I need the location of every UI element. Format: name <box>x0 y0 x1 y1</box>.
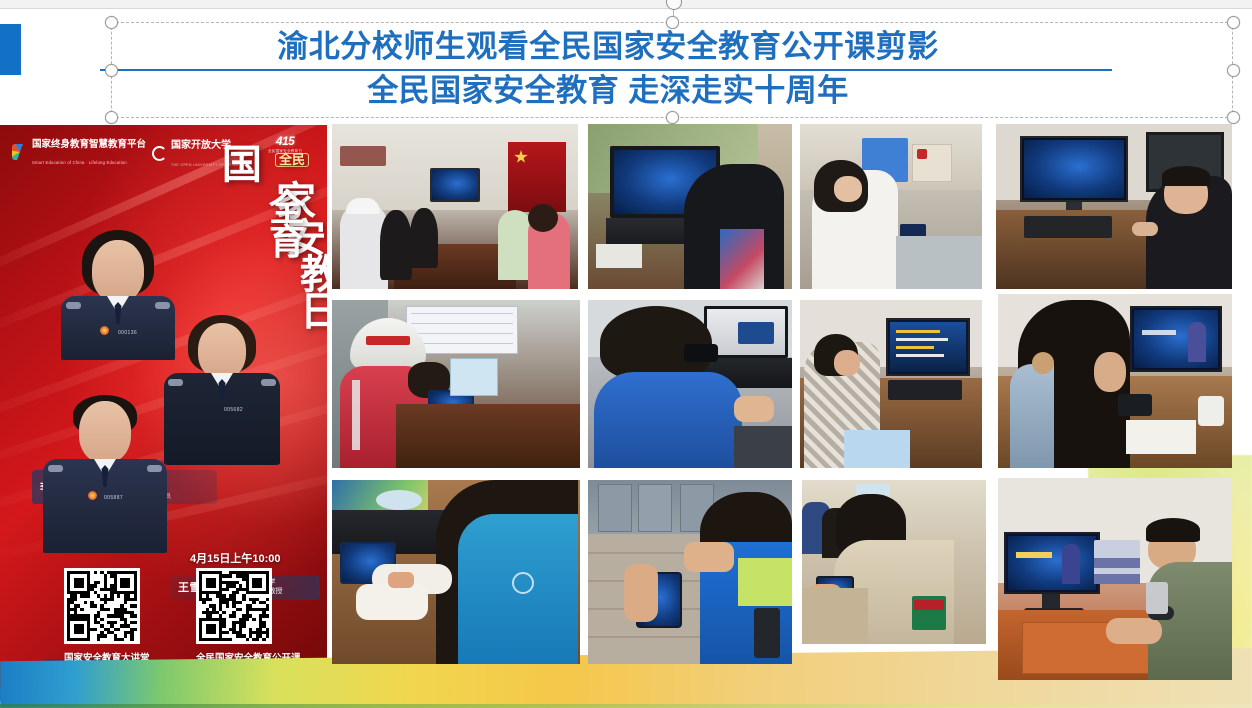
photo-thumbnail[interactable] <box>800 124 982 289</box>
hair <box>600 306 712 380</box>
photo-thumbnail[interactable] <box>588 124 792 289</box>
head <box>79 401 131 463</box>
epaulette <box>168 379 183 386</box>
badge-number: 005682 <box>224 407 243 413</box>
epaulette <box>66 302 81 309</box>
monitor <box>1130 306 1222 372</box>
document-tray <box>1094 574 1140 584</box>
reflective-vest <box>738 558 792 606</box>
calligraphy-char: 教 <box>222 257 327 294</box>
desk-paper <box>596 244 642 268</box>
monitor <box>1020 136 1128 202</box>
calligraphy-char: 国 <box>222 143 261 187</box>
tv-screen <box>430 168 480 202</box>
calligraphy-char: 育 <box>269 221 305 262</box>
photo-thumbnail[interactable] <box>998 294 1232 468</box>
attendee <box>410 208 438 268</box>
hand <box>1106 618 1162 644</box>
jacket-logo <box>720 229 764 289</box>
window-chrome-strip <box>0 0 1252 9</box>
trousers <box>734 426 792 468</box>
ring-icon <box>152 146 167 161</box>
head <box>198 323 246 379</box>
speaker-portrait: 005887 <box>40 395 170 553</box>
calligraphy-tag: 全民 <box>275 153 309 167</box>
hair-tie <box>1032 352 1054 374</box>
cap <box>346 198 380 214</box>
helmet-text <box>366 336 410 345</box>
resize-handle-bottom-center[interactable] <box>666 111 679 124</box>
hair <box>1146 518 1200 542</box>
qr-block[interactable]: 国家安全教育大讲堂 <box>64 568 150 664</box>
event-time: 4月15日上午10:00 <box>190 550 281 566</box>
presenter-figure <box>1062 544 1080 584</box>
vest-emblem <box>512 572 534 594</box>
screen-line <box>896 354 944 357</box>
resize-handle-middle-left[interactable] <box>105 64 118 77</box>
screen-line <box>896 346 934 349</box>
arm <box>684 542 734 572</box>
screen-line <box>896 330 940 333</box>
insignia <box>100 326 109 335</box>
resize-handle-top-left[interactable] <box>105 16 118 29</box>
screen-title <box>1142 330 1176 335</box>
thermos <box>1146 582 1168 614</box>
rule <box>411 313 513 314</box>
title-line-2: 全民国家安全教育 走深走实十周年 <box>104 72 1112 110</box>
monitor <box>1004 532 1100 594</box>
hand <box>624 564 658 622</box>
table-surface <box>802 588 868 644</box>
screen-content <box>1024 140 1124 198</box>
qr-code-open-class[interactable] <box>196 568 272 644</box>
photo-thumbnail[interactable] <box>996 124 1232 289</box>
smartphone <box>1118 394 1152 416</box>
fan-icon <box>12 144 28 160</box>
speaker-portrait: 000136 <box>58 230 178 360</box>
hand <box>1132 222 1158 236</box>
photo-thumbnail[interactable] <box>802 480 986 644</box>
head <box>92 240 144 302</box>
screen-line <box>896 338 948 341</box>
notebook <box>1126 420 1196 454</box>
glasses-icon <box>684 344 718 362</box>
phone-screen <box>738 322 774 344</box>
supply-box <box>450 358 498 396</box>
sleeve <box>356 584 428 620</box>
logo-label-415: 415 <box>268 134 302 148</box>
screen-title <box>1016 552 1052 558</box>
badge-number: 005887 <box>104 495 123 501</box>
photo-thumbnail[interactable] <box>998 478 1232 680</box>
resize-handle-bottom-right[interactable] <box>1227 111 1240 124</box>
smart-education-logo: 国家终身教育智慧教育平台 Smart Education of China · … <box>12 135 146 169</box>
title-line-1: 渝北分校师生观看全民国家安全教育公开课剪影 <box>104 28 1112 66</box>
wall-banner <box>508 142 566 212</box>
blue-shirt <box>594 372 742 468</box>
rule <box>411 323 513 324</box>
resize-handle-bottom-left[interactable] <box>105 111 118 124</box>
desk-surface <box>396 404 580 468</box>
hand <box>388 572 414 588</box>
attendee <box>380 210 412 280</box>
accent-bar <box>0 24 21 75</box>
face <box>834 350 860 376</box>
epaulette <box>147 465 162 472</box>
mug <box>1198 396 1224 426</box>
hair <box>1162 166 1210 186</box>
epaulette <box>48 465 63 472</box>
photo-thumbnail[interactable] <box>588 480 792 664</box>
reflective-stripe <box>352 380 360 450</box>
keyboard <box>888 380 962 400</box>
bottom-stripe <box>0 704 1252 708</box>
photo-thumbnail[interactable] <box>588 300 792 468</box>
poster-image[interactable]: 国家终身教育智慧教育平台 Smart Education of China · … <box>0 125 327 701</box>
face <box>834 176 862 202</box>
poster-calligraphy-secondary: 全 育 <box>269 191 305 259</box>
photo-thumbnail[interactable] <box>332 480 580 664</box>
locker <box>598 484 632 532</box>
screen-content <box>1008 536 1096 590</box>
face <box>1094 352 1126 392</box>
epaulette <box>261 379 276 386</box>
resize-handle-top-center[interactable] <box>666 16 679 29</box>
badge-number: 000136 <box>118 330 137 336</box>
document-stack <box>844 430 910 468</box>
attendee <box>498 210 532 280</box>
desk-surface <box>896 236 982 289</box>
resize-handle-top-right[interactable] <box>1227 16 1240 29</box>
polo-shirt <box>1148 562 1232 680</box>
presentation-slide[interactable]: 国家终身教育智慧教育平台 Smart Education of China · … <box>0 0 1252 708</box>
logo-label-en: Smart Education of China · Lifelong Educ… <box>32 160 127 165</box>
photo-thumbnail[interactable] <box>332 300 580 468</box>
keyboard <box>1024 216 1112 238</box>
patch-text <box>914 600 944 610</box>
speaker-portrait: 005682 <box>162 315 282 465</box>
screen-content <box>432 170 478 200</box>
desk-calendar <box>912 144 952 182</box>
page-title[interactable]: 渝北分校师生观看全民国家安全教育公开课剪影 全民国家安全教育 走深走实十周年 <box>104 26 1112 114</box>
photo-thumbnail[interactable] <box>332 124 578 289</box>
locker <box>638 484 672 532</box>
insignia <box>88 491 97 500</box>
denim-jacket <box>1010 364 1054 468</box>
calendar-mark <box>917 149 927 159</box>
logo-label-cn: 国家终身教育智慧教育平台 <box>32 139 146 150</box>
hair <box>528 204 558 232</box>
mouse-pad <box>376 490 422 510</box>
rule <box>411 333 513 334</box>
qr-block[interactable]: 全民国家安全教育公开课 <box>196 568 301 664</box>
photo-thumbnail[interactable] <box>800 300 982 468</box>
resize-handle-middle-right[interactable] <box>1227 64 1240 77</box>
qr-code-lecture-hall[interactable] <box>64 568 140 644</box>
epaulette <box>155 302 170 309</box>
sleeve-patch <box>912 596 946 630</box>
walkie-talkie <box>754 608 780 658</box>
rule <box>411 343 513 344</box>
hand <box>734 396 774 422</box>
wall-text <box>340 146 386 166</box>
document-tray <box>1094 558 1140 568</box>
presenter-figure <box>1188 322 1206 362</box>
monitor <box>886 318 970 376</box>
